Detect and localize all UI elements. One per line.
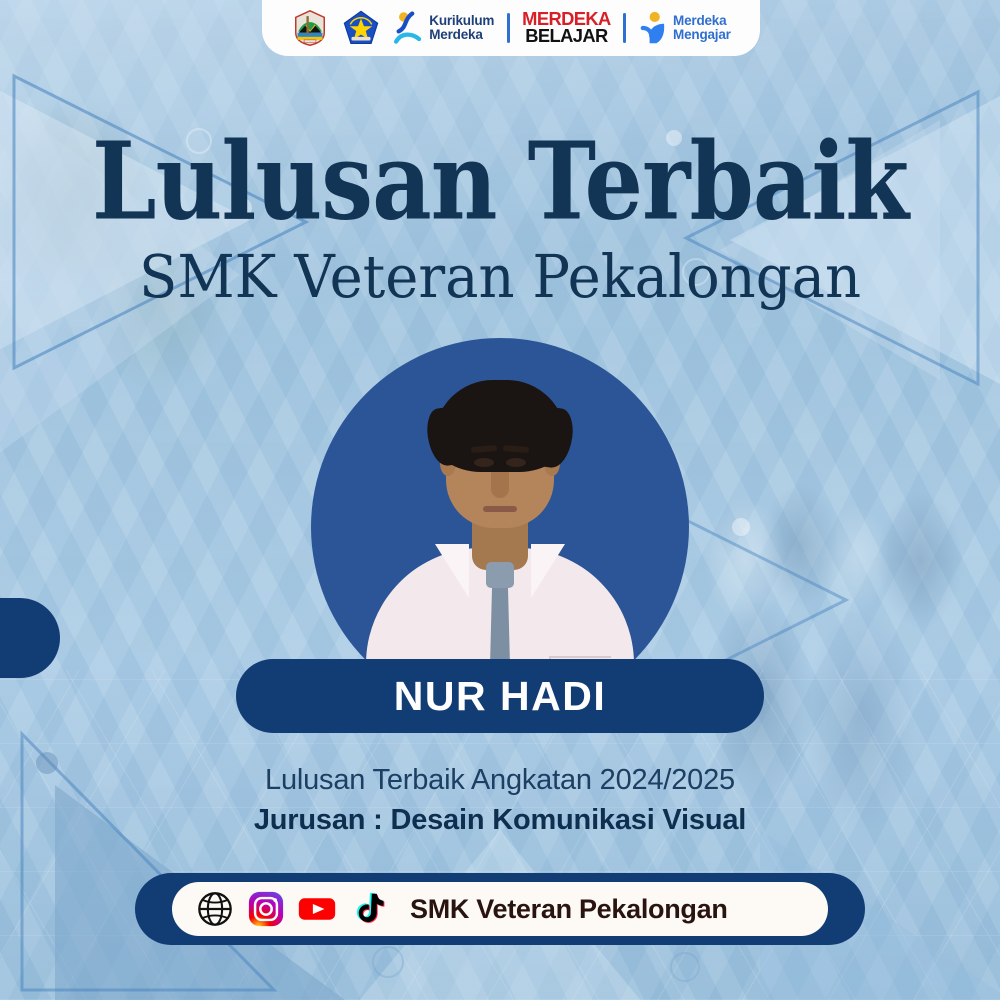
kurikulum-merdeka-logo: Kurikulum Merdeka	[393, 11, 494, 45]
decor-ring	[670, 952, 700, 982]
merdeka-mengajar-logo: Merdeka Mengajar	[639, 11, 731, 45]
poster-subtitle: SMK Veteran Pekalongan	[0, 249, 1000, 308]
tiktok-icon[interactable]	[349, 890, 387, 928]
student-tie-knot	[486, 562, 514, 588]
decor-dot	[732, 518, 750, 536]
social-media-inner: SMK Veteran Pekalongan	[172, 882, 828, 936]
student-collar-right	[531, 544, 565, 598]
student-eye-left	[474, 458, 494, 467]
info-cohort-line: Lulusan Terbaik Angkatan 2024/2025	[0, 760, 1000, 800]
social-handle: SMK Veteran Pekalongan	[410, 894, 728, 925]
poster-title: Lulusan Terbaik	[0, 128, 1000, 235]
student-mouth	[483, 506, 517, 512]
student-eye-right	[506, 458, 526, 467]
info-major-line: Jurusan : Desain Komunikasi Visual	[0, 800, 1000, 840]
logo-divider	[507, 13, 510, 43]
decor-outline-triangle-bottom-left	[18, 694, 278, 994]
graduation-info: Lulusan Terbaik Angkatan 2024/2025 Jurus…	[0, 760, 1000, 840]
youtube-icon[interactable]	[298, 890, 336, 928]
logo-divider	[623, 13, 626, 43]
merdeka-mengajar-line2: Mengajar	[673, 27, 731, 42]
student-hair	[434, 380, 566, 472]
decor-ring	[372, 946, 404, 978]
kurikulum-merdeka-line2: Merdeka	[429, 27, 482, 42]
instagram-icon[interactable]	[247, 890, 285, 928]
student-nose	[491, 472, 509, 498]
tut-wuri-handayani-logo	[342, 9, 380, 47]
merdeka-mengajar-line1: Merdeka	[673, 13, 726, 28]
graduation-poster: Kurikulum Merdeka MERDEKA BELAJAR Merdek…	[0, 0, 1000, 1000]
student-collar-left	[435, 544, 469, 598]
merdeka-belajar-logo: MERDEKA BELAJAR	[523, 11, 610, 45]
jawa-tengah-emblem-logo	[291, 9, 329, 47]
student-name: NUR HADI	[394, 673, 606, 720]
social-media-bar: SMK Veteran Pekalongan	[135, 873, 865, 945]
kurikulum-merdeka-line1: Kurikulum	[429, 13, 494, 28]
student-name-banner: NUR HADI	[236, 659, 764, 733]
merdeka-belajar-line2: BELAJAR	[522, 28, 611, 45]
website-globe-icon[interactable]	[196, 890, 234, 928]
header-logo-bar: Kurikulum Merdeka MERDEKA BELAJAR Merdek…	[262, 0, 760, 56]
